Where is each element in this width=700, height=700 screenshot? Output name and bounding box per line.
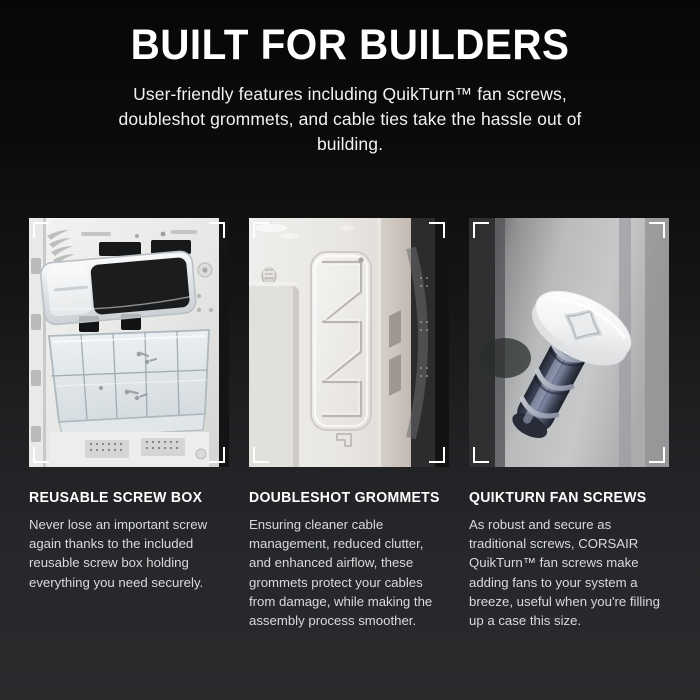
- page-subtitle: User-friendly features including QuikTur…: [115, 82, 585, 157]
- photo-doubleshot-grommets: [249, 218, 449, 467]
- page-title: BUILT FOR BUILDERS: [21, 22, 679, 68]
- photo-image-grommet: [249, 218, 449, 467]
- feature-title-doubleshot-grommets: DOUBLESHOT GROMMETS: [249, 490, 443, 506]
- feature-column-doubleshot-grommets: DOUBLESHOT GROMMETS Ensuring cleaner cab…: [249, 218, 449, 630]
- photo-reusable-screw-box: [29, 218, 229, 467]
- feature-title-reusable-screw-box: REUSABLE SCREW BOX: [29, 490, 223, 506]
- feature-columns: REUSABLE SCREW BOX Never lose an importa…: [29, 218, 671, 630]
- feature-body-doubleshot-grommets: Ensuring cleaner cable management, reduc…: [249, 515, 441, 630]
- promo-page: BUILT FOR BUILDERS User-friendly feature…: [0, 0, 700, 700]
- photo-image-screw: [469, 218, 669, 467]
- feature-column-reusable-screw-box: REUSABLE SCREW BOX Never lose an importa…: [29, 218, 229, 630]
- header: BUILT FOR BUILDERS User-friendly feature…: [0, 0, 700, 157]
- feature-body-quikturn-fan-screws: As robust and secure as traditional scre…: [469, 515, 661, 630]
- feature-column-quikturn-fan-screws: QUIKTURN FAN SCREWS As robust and secure…: [469, 218, 669, 630]
- photo-quikturn-fan-screws: [469, 218, 669, 467]
- photo-image-screw-box: [29, 218, 229, 467]
- feature-title-quikturn-fan-screws: QUIKTURN FAN SCREWS: [469, 490, 663, 506]
- feature-body-reusable-screw-box: Never lose an important screw again than…: [29, 515, 221, 592]
